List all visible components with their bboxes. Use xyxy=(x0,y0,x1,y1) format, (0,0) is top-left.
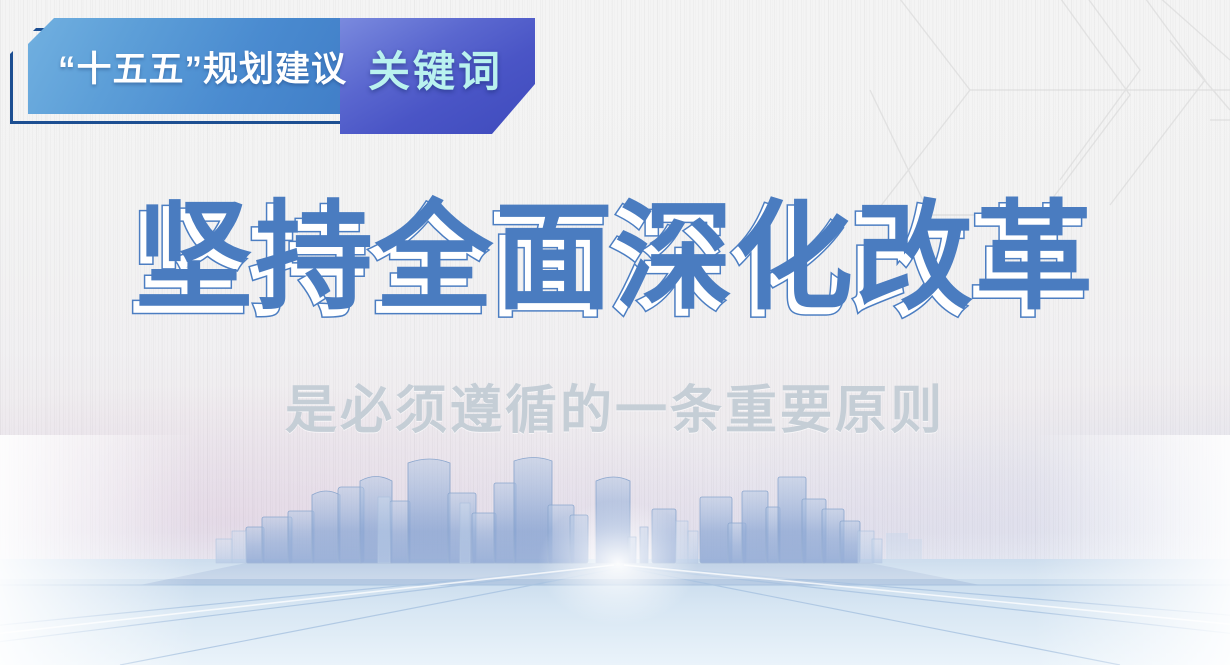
badge-plan-label: “十五五”规划建议 xyxy=(58,18,347,114)
keyword-badge: “十五五”规划建议 关键词 xyxy=(10,18,555,133)
badge-keyword-label: 关键词 xyxy=(368,18,503,118)
poster-canvas: “十五五”规划建议 关键词 坚持全面深化改革 坚持全面深化改革 是必须遵循的一条… xyxy=(0,0,1230,665)
